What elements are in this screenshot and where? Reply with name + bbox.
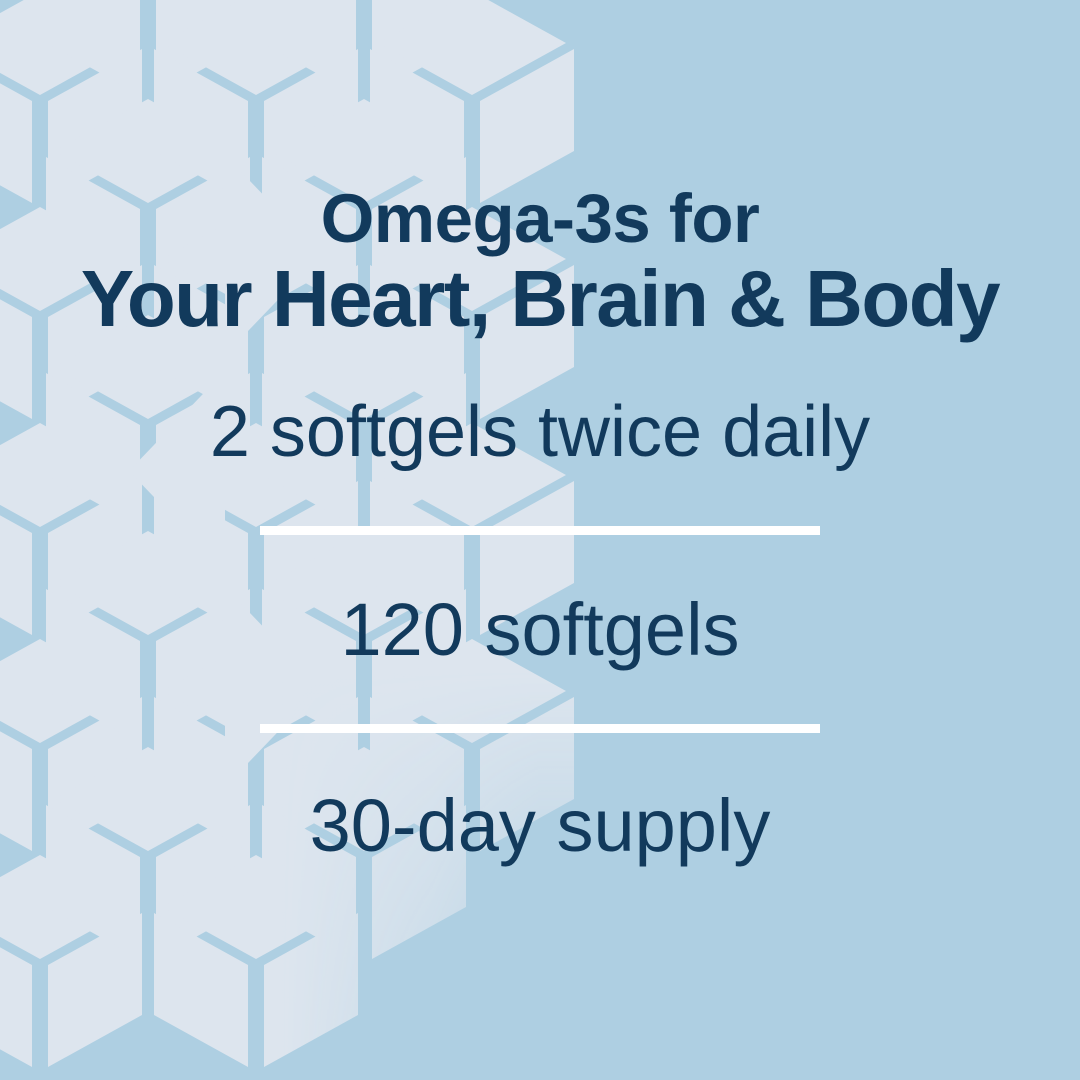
product-info-panel: Omega-3s for Your Heart, Brain & Body 2 … <box>0 0 1080 1080</box>
divider-bottom <box>260 724 820 733</box>
content-stack: Omega-3s for Your Heart, Brain & Body 2 … <box>0 0 1080 1080</box>
divider-top <box>260 526 820 535</box>
headline-line-2: Your Heart, Brain & Body <box>0 256 1080 342</box>
headline-block: Omega-3s for Your Heart, Brain & Body <box>0 182 1080 341</box>
headline-line-1: Omega-3s for <box>0 182 1080 256</box>
dosage-text: 2 softgels twice daily <box>210 396 870 468</box>
softgel-count-text: 120 softgels <box>340 593 739 667</box>
supply-duration-text: 30-day supply <box>310 789 771 863</box>
